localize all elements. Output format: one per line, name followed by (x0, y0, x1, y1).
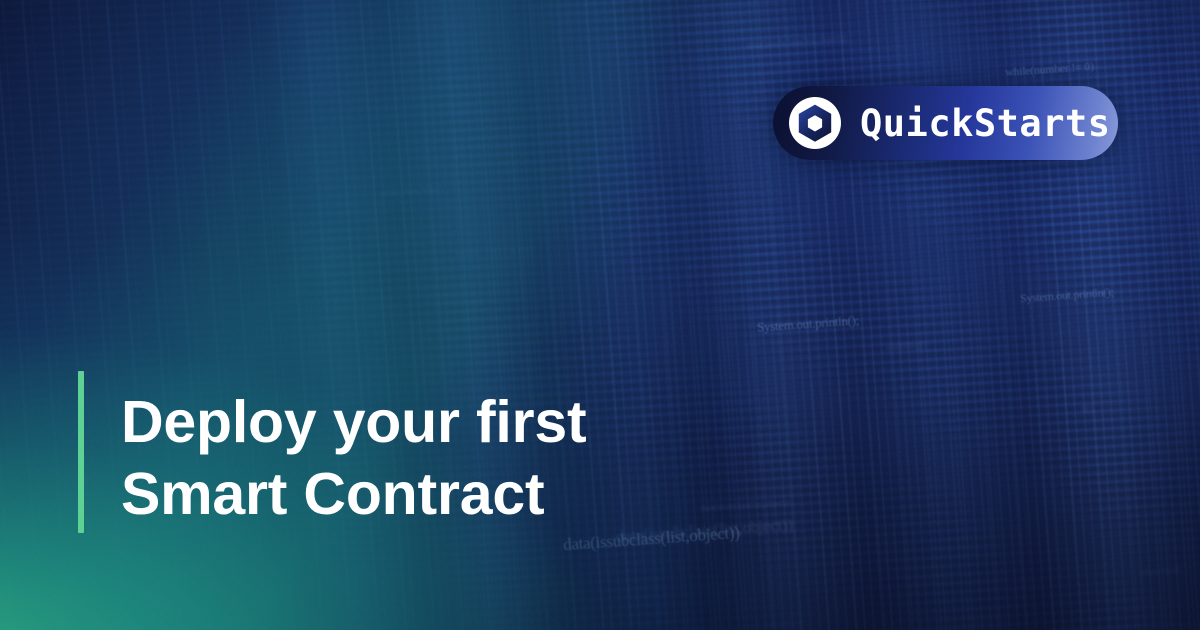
quickstarts-badge[interactable]: QuickStarts (773, 86, 1118, 160)
page-title: Deploy your first Smart Contract (121, 386, 761, 530)
page-title-line-2: Smart Contract (121, 458, 761, 530)
chainlink-hexagon-icon (789, 97, 841, 149)
page-title-line-1: Deploy your first (121, 386, 761, 458)
quickstarts-og-card: data(issubclass(list,object))data(issubc… (0, 0, 1200, 630)
accent-bar (78, 371, 84, 533)
badge-label: QuickStarts (860, 105, 1111, 142)
